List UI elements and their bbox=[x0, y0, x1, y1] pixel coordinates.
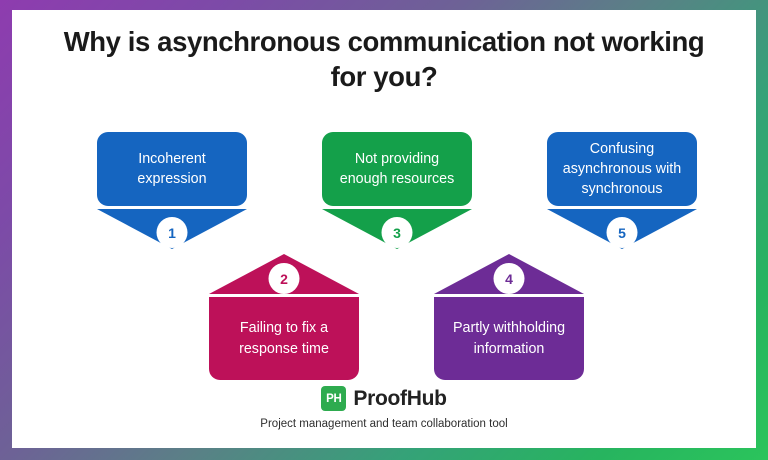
banner-label-2: Failing to fix a response time bbox=[209, 297, 359, 380]
banner-item-5[interactable]: Confusing asynchronous with synchronous5 bbox=[547, 132, 697, 249]
proofhub-logo-icon: PH bbox=[321, 386, 346, 411]
banner-label-1: Incoherent expression bbox=[97, 132, 247, 206]
banner-label-5: Confusing asynchronous with synchronous bbox=[547, 132, 697, 206]
banner-number-2: 2 bbox=[269, 263, 300, 294]
proofhub-logo: PH ProofHub bbox=[12, 386, 756, 411]
page-title: Why is asynchronous communication not wo… bbox=[12, 24, 756, 94]
footer: PH ProofHub Project management and team … bbox=[12, 386, 756, 430]
banner-label-4: Partly withholding information bbox=[434, 297, 584, 380]
banner-item-2[interactable]: Failing to fix a response time2 bbox=[209, 254, 359, 380]
banner-number-4: 4 bbox=[494, 263, 525, 294]
banner-number-1: 1 bbox=[157, 217, 188, 248]
infographic-frame: Why is asynchronous communication not wo… bbox=[0, 0, 768, 460]
tagline: Project management and team collaboratio… bbox=[12, 418, 756, 430]
brand-name: ProofHub bbox=[353, 387, 446, 411]
banner-number-3: 3 bbox=[382, 217, 413, 248]
banner-item-1[interactable]: Incoherent expression1 bbox=[97, 132, 247, 249]
banner-item-4[interactable]: Partly withholding information4 bbox=[434, 254, 584, 380]
infographic-canvas: Why is asynchronous communication not wo… bbox=[12, 10, 756, 448]
banner-number-5: 5 bbox=[607, 217, 638, 248]
banner-item-3[interactable]: Not providing enough resources3 bbox=[322, 132, 472, 249]
banner-label-3: Not providing enough resources bbox=[322, 132, 472, 206]
